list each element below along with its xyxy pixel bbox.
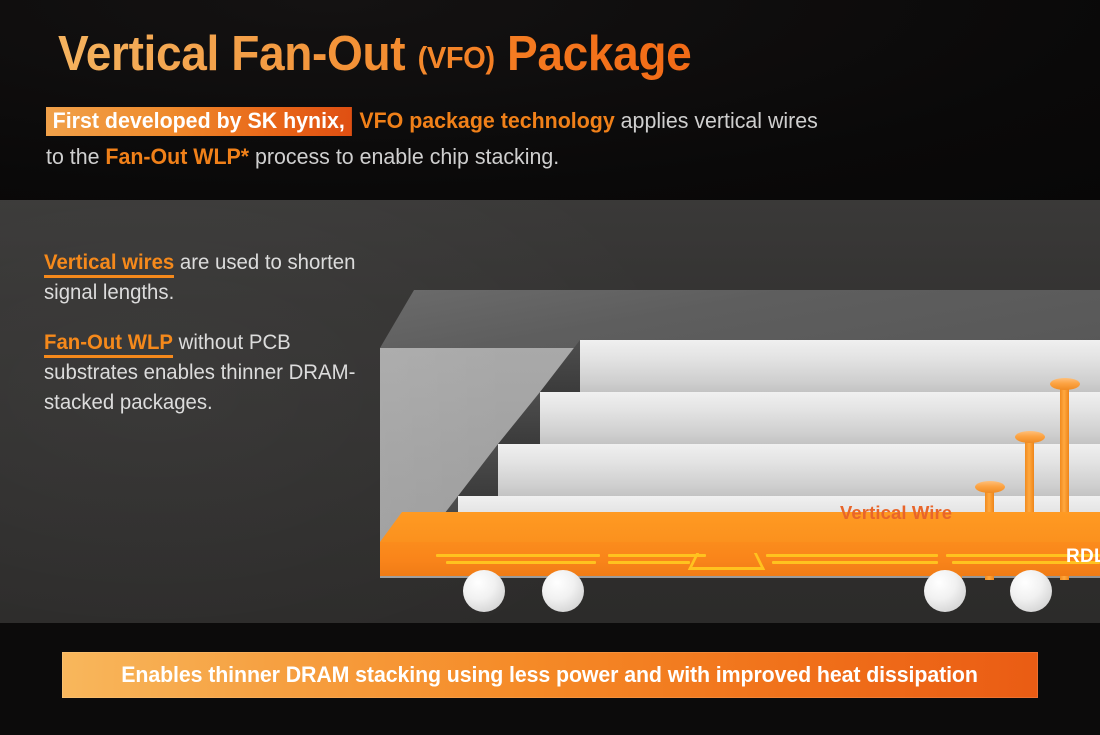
solder-ball-3 [924,570,966,612]
rdl-trace-3 [608,554,706,557]
rdl-trace-5 [766,554,938,557]
subtitle-highlight: First developed by SK hynix, [46,107,351,136]
page-title: Vertical Fan-Out (VFO) Package [58,26,691,82]
solder-ball-1 [463,570,505,612]
paragraph-1-keyword: Vertical wires [44,251,174,278]
rdl-trace-2 [446,561,596,564]
vertical-wire-2-cap-icon [975,481,1005,493]
subtitle-gray-2: to the [46,144,105,169]
header-section: Vertical Fan-Out (VFO) Package First dev… [0,0,1100,200]
rdl-trace-4 [608,561,690,564]
paragraph-vertical-wires: Vertical wires are used to shorten signa… [44,248,379,308]
page-title-vfo-abbrev: (VFO) [418,40,495,75]
subtitle-orange-2: Fan-Out WLP* [105,144,249,169]
vfo-package-illustration: Vertical Wire RDL [380,290,1100,620]
die-3 [498,444,1100,496]
die-1-top [580,340,1100,392]
paragraph-2-keyword: Fan-Out WLP [44,331,173,358]
subtitle-line-2: to the Fan-Out WLP* process to enable ch… [46,140,996,173]
summary-banner: Enables thinner DRAM stacking using less… [62,652,1038,698]
paragraph-fan-out-wlp: Fan-Out WLP without PCB substrates enabl… [44,328,379,418]
summary-banner-text: Enables thinner DRAM stacking using less… [122,662,979,688]
rdl-trace-1 [436,554,600,557]
vertical-wire-3-cap-icon [1015,431,1045,443]
subtitle-gray-1: applies vertical wires [615,108,818,133]
vertical-wire-4-cap-icon [1050,378,1080,390]
body-copy: Vertical wires are used to shorten signa… [44,248,389,438]
page-title-part-2: Package [495,27,692,81]
rdl-trace-6 [772,561,938,564]
label-vertical-wire: Vertical Wire [840,502,952,524]
page-title-part-1: Vertical Fan-Out [58,27,418,81]
rdl-substrate-top-face [380,512,1100,542]
subtitle-gray-3: process to enable chip stacking. [249,144,559,169]
header-subtitle: First developed by SK hynix, VFO package… [46,104,996,173]
infographic-page: Vertical Fan-Out (VFO) Package First dev… [0,0,1100,735]
solder-ball-2 [542,570,584,612]
label-rdl: RDL [1066,546,1100,568]
solder-ball-4 [1010,570,1052,612]
subtitle-orange-1: VFO package technology [353,108,614,133]
